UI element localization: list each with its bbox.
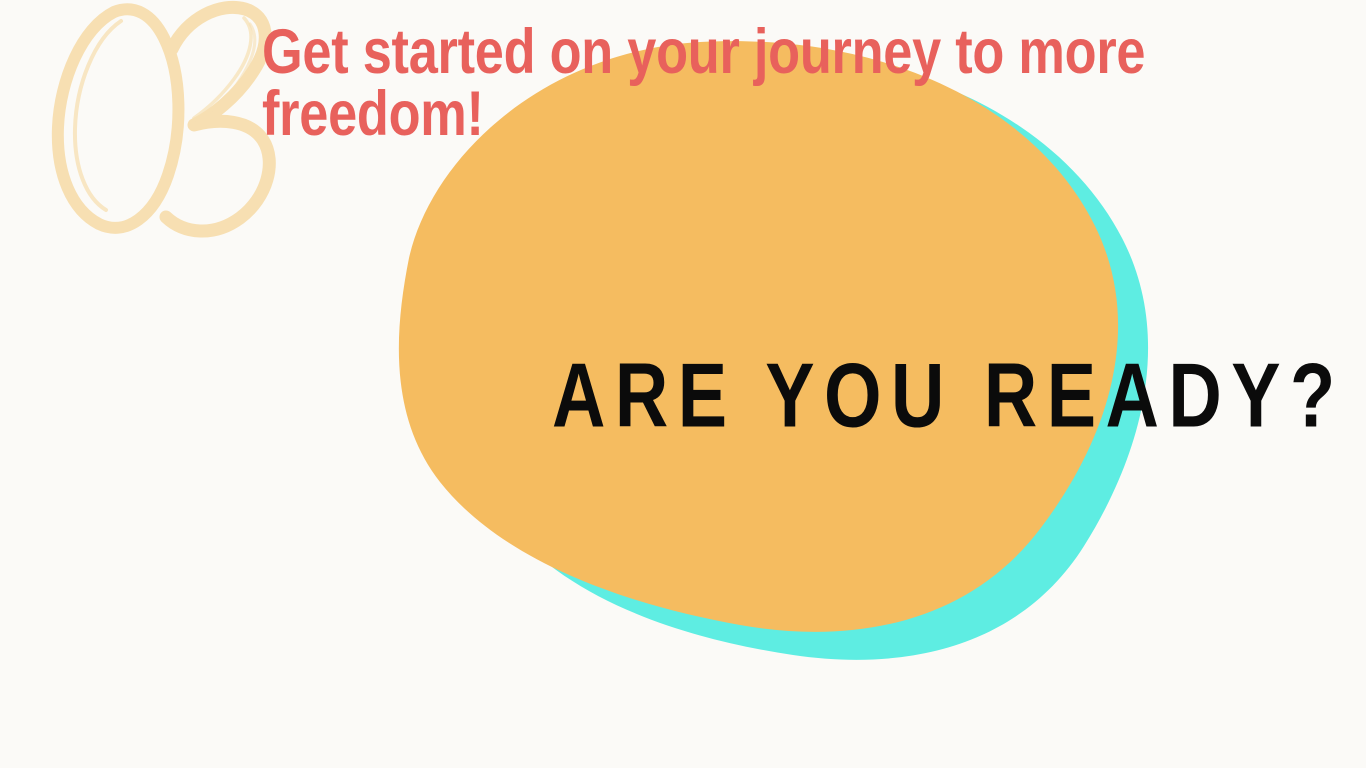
headline-text: Get started on your journey to more free… — [262, 22, 1275, 145]
slide-canvas: 03 Get started on your journey to more f… — [0, 0, 1366, 768]
are-you-ready-text: ARE YOU READY? — [552, 350, 1345, 441]
